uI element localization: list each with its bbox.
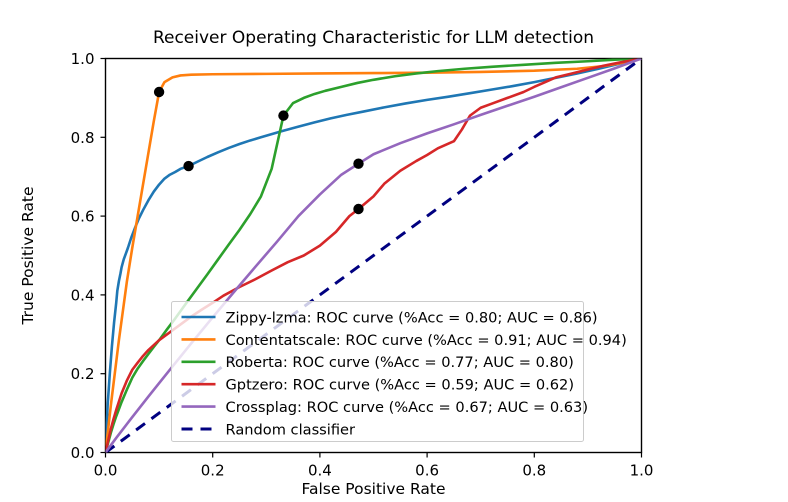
legend-label-2: Roberta: ROC curve (%Acc = 0.77; AUC = 0… [226,354,574,371]
legend-label-0: Zippy-lzma: ROC curve (%Acc = 0.80; AUC … [226,309,598,326]
operating-point-roberta [278,110,288,120]
chart-title: Receiver Operating Characteristic for LL… [153,28,594,48]
operating-point-gptzero [353,204,363,214]
y-tick-label: 0.0 [71,444,95,462]
chart-canvas: Receiver Operating Characteristic for LL… [0,0,788,502]
y-tick-label: 0.8 [71,129,95,147]
x-tick-label: 0.2 [201,462,225,480]
roc-chart-figure: Receiver Operating Characteristic for LL… [0,0,788,502]
y-tick-label: 0.4 [71,286,95,304]
legend-label-1: Contentatscale: ROC curve (%Acc = 0.91; … [226,332,627,349]
y-tick-label: 0.2 [71,365,95,383]
x-tick-label: 0.0 [94,462,118,480]
legend-label-4: Crossplag: ROC curve (%Acc = 0.67; AUC =… [226,399,589,416]
y-axis-title: True Positive Rate [19,186,37,325]
x-tick-label: 0.4 [308,462,332,480]
x-tick-label: 1.0 [630,462,654,480]
y-tick-label: 0.6 [71,208,95,226]
x-axis-title: False Positive Rate [301,480,445,498]
operating-point-zippy-lzma [183,161,193,171]
x-tick-label: 0.8 [522,462,546,480]
operating-point-crossplag [353,159,363,169]
operating-point-contentatscale [154,87,164,97]
x-tick-label: 0.6 [415,462,439,480]
y-tick-label: 1.0 [71,50,95,68]
legend-label-5: Random classifier [226,421,356,438]
legend-label-3: Gptzero: ROC curve (%Acc = 0.59; AUC = 0… [226,377,575,394]
